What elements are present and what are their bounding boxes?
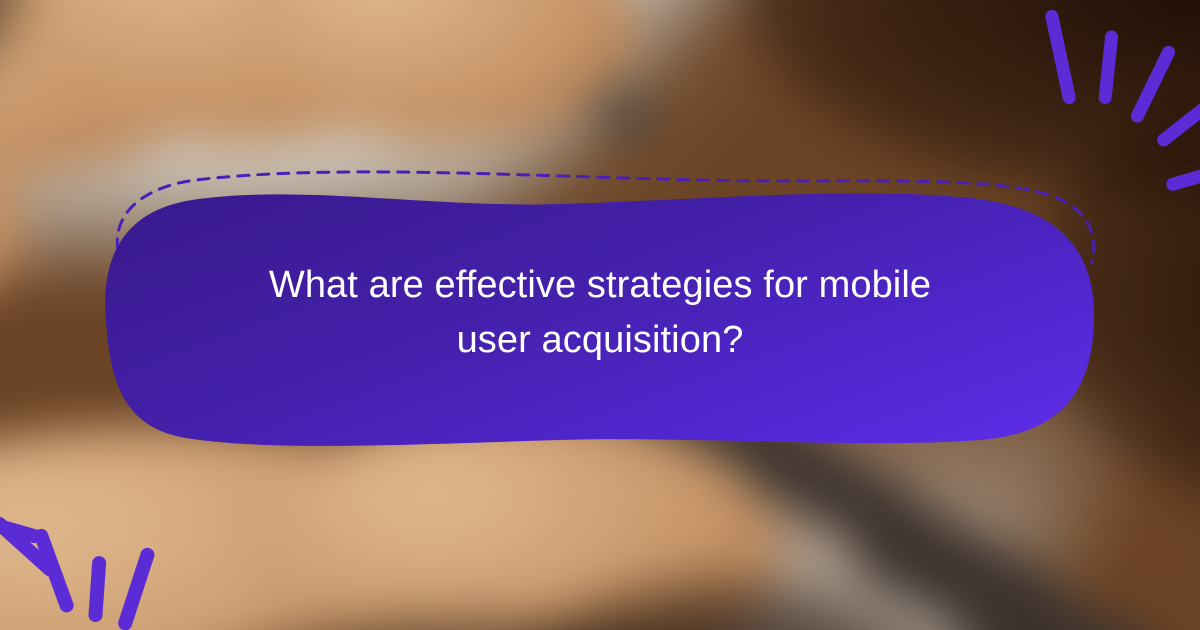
page-title: What are effective strategies for mobile… bbox=[150, 258, 1050, 368]
social-card: What are effective strategies for mobile… bbox=[0, 0, 1200, 630]
